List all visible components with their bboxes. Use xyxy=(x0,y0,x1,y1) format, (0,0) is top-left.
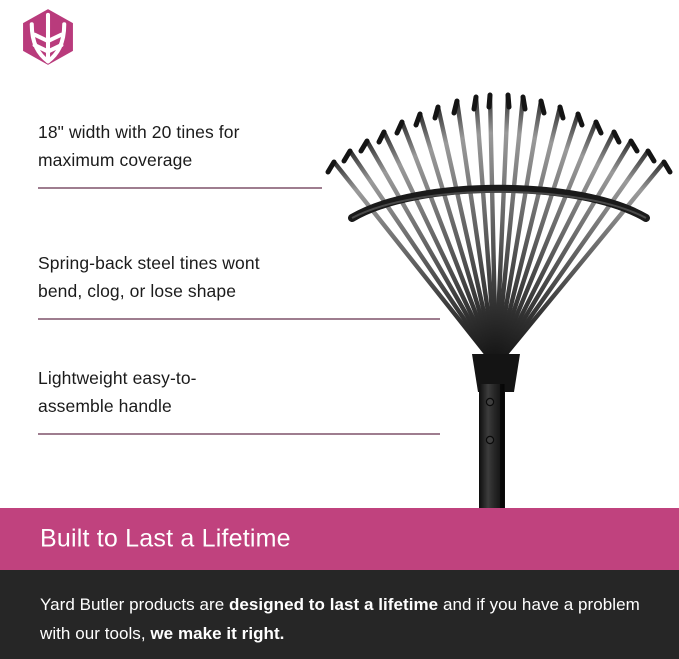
leaf-rake-illustration-icon xyxy=(318,66,679,518)
banner-title: Built to Last a Lifetime xyxy=(40,525,291,554)
feature-text: Lightweight easy-to- assemble handle xyxy=(38,364,268,420)
feature-text: 18" width with 20 tines for maximum cove… xyxy=(38,118,298,174)
banner: Built to Last a Lifetime xyxy=(0,508,679,570)
product-feature-panel: 18" width with 20 tines for maximum cove… xyxy=(0,0,679,659)
footer-plain: Yard Butler products are xyxy=(40,595,229,614)
footer: Yard Butler products are designed to las… xyxy=(0,570,679,659)
footer-emphasis: we make it right. xyxy=(150,624,284,643)
hexagon-leaf-logo-icon xyxy=(19,8,77,66)
feature-text: Spring-back steel tines wont bend, clog,… xyxy=(38,249,338,305)
feature-divider xyxy=(38,187,322,189)
footer-emphasis: designed to last a lifetime xyxy=(229,595,438,614)
feature-item-width-tines: 18" width with 20 tines for maximum cove… xyxy=(38,118,322,189)
footer-text: Yard Butler products are designed to las… xyxy=(40,590,646,648)
